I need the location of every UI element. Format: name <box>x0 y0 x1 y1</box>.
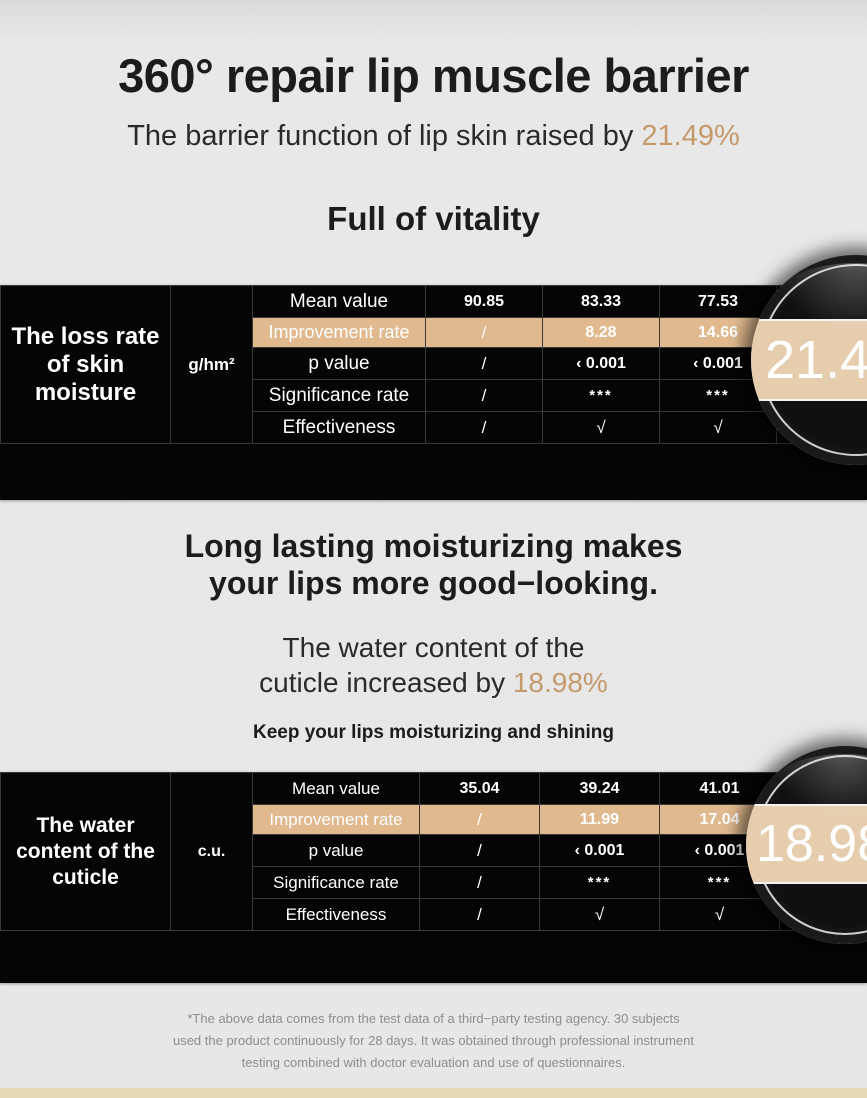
cell-improvement-rate-2: 8.28 <box>543 318 660 348</box>
row-header-water-content: The water content of the cuticle <box>1 773 171 931</box>
water-content-table: The water content of the cuticle c.u. Me… <box>0 772 867 931</box>
metric-label-effectiveness: Effectiveness <box>253 412 426 444</box>
cell-mean-value-3: 77.53 <box>660 286 777 318</box>
moisturizing-sub-value: 18.98% <box>513 667 608 698</box>
metric-label-effectiveness: Effectiveness <box>253 899 420 931</box>
cell-mean-value-2: 83.33 <box>543 286 660 318</box>
metric-label-p-value: p value <box>253 835 420 867</box>
cell-effectiveness-1: / <box>420 899 540 931</box>
moisturizing-title-line2: your lips more good−looking. <box>0 565 867 602</box>
metric-label-mean-value: Mean value <box>253 286 426 318</box>
moisturizing-sub-line2: cuticle increased by 18.98% <box>0 665 867 700</box>
cell-improvement-rate-2: 11.99 <box>540 805 660 835</box>
cell-significance-2: *** <box>540 867 660 899</box>
metric-label-improvement-rate: Improvement rate <box>253 318 426 348</box>
magnifier-lens-band: 21.49 <box>751 319 867 401</box>
cell-mean-value-1: 90.85 <box>426 286 543 318</box>
cell-effectiveness-3: √ <box>660 412 777 444</box>
table-row: The loss rate of skin moisture g/hm² Mea… <box>1 286 867 318</box>
loss-rate-table-wrapper: The loss rate of skin moisture g/hm² Mea… <box>0 285 867 500</box>
moisturizing-small-note: Keep your lips moisturizing and shining <box>0 722 867 744</box>
hero-subtitle: The barrier function of lip skin raised … <box>0 120 867 153</box>
loss-rate-table: The loss rate of skin moisture g/hm² Mea… <box>0 285 867 444</box>
unit-cell-water-content: c.u. <box>171 773 253 931</box>
footnote-line-1: *The above data comes from the test data… <box>100 1008 767 1030</box>
metric-label-mean-value: Mean value <box>253 773 420 805</box>
cell-improvement-rate-1: / <box>426 318 543 348</box>
moisturizing-subtitle: The water content of the cuticle increas… <box>0 630 867 700</box>
cell-significance-1: / <box>420 867 540 899</box>
footnote-line-3: testing combined with doctor evaluation … <box>100 1052 767 1074</box>
water-content-table-wrapper: The water content of the cuticle c.u. Me… <box>0 772 867 983</box>
cell-p-value-2: ‹ 0.001 <box>543 348 660 380</box>
cell-p-value-2: ‹ 0.001 <box>540 835 660 867</box>
magnifier-value: 18.98 <box>746 814 867 874</box>
moisturizing-sub-text: cuticle increased by <box>259 667 513 698</box>
cell-effectiveness-2: √ <box>540 899 660 931</box>
metric-label-improvement-rate: Improvement rate <box>253 805 420 835</box>
section-heading-vitality: Full of vitality <box>0 200 867 238</box>
magnifier-value: 21.49 <box>751 329 867 391</box>
cell-p-value-1: / <box>426 348 543 380</box>
cell-effectiveness-3: √ <box>660 899 780 931</box>
metric-label-significance-rate: Significance rate <box>253 867 420 899</box>
footnote-line-2: used the product continuously for 28 day… <box>100 1030 767 1052</box>
hero-subtitle-value: 21.49% <box>641 120 739 152</box>
metric-label-p-value: p value <box>253 348 426 380</box>
hero-subtitle-text: The barrier function of lip skin raised … <box>127 120 641 152</box>
table-row: The water content of the cuticle c.u. Me… <box>1 773 867 805</box>
row-header-loss-rate: The loss rate of skin moisture <box>1 286 171 444</box>
bottom-accent-strip <box>0 1088 867 1098</box>
cell-mean-value-1: 35.04 <box>420 773 540 805</box>
page-title: 360° repair lip muscle barrier <box>0 48 867 103</box>
section-heading-moisturizing: Long lasting moisturizing makes your lip… <box>0 528 867 602</box>
metric-label-significance-rate: Significance rate <box>253 380 426 412</box>
cell-improvement-rate-1: / <box>420 805 540 835</box>
footnote: *The above data comes from the test data… <box>100 1008 767 1074</box>
cell-mean-value-2: 39.24 <box>540 773 660 805</box>
cell-effectiveness-2: √ <box>543 412 660 444</box>
moisturizing-sub-line1: The water content of the <box>0 630 867 665</box>
unit-cell-loss-rate: g/hm² <box>171 286 253 444</box>
magnifier-lens-band: 18.98 <box>746 804 867 884</box>
cell-effectiveness-1: / <box>426 412 543 444</box>
cell-significance-1: / <box>426 380 543 412</box>
cell-significance-2: *** <box>543 380 660 412</box>
moisturizing-title-line1: Long lasting moisturizing makes <box>0 528 867 565</box>
promo-page: 360° repair lip muscle barrier The barri… <box>0 0 867 1098</box>
cell-p-value-1: / <box>420 835 540 867</box>
